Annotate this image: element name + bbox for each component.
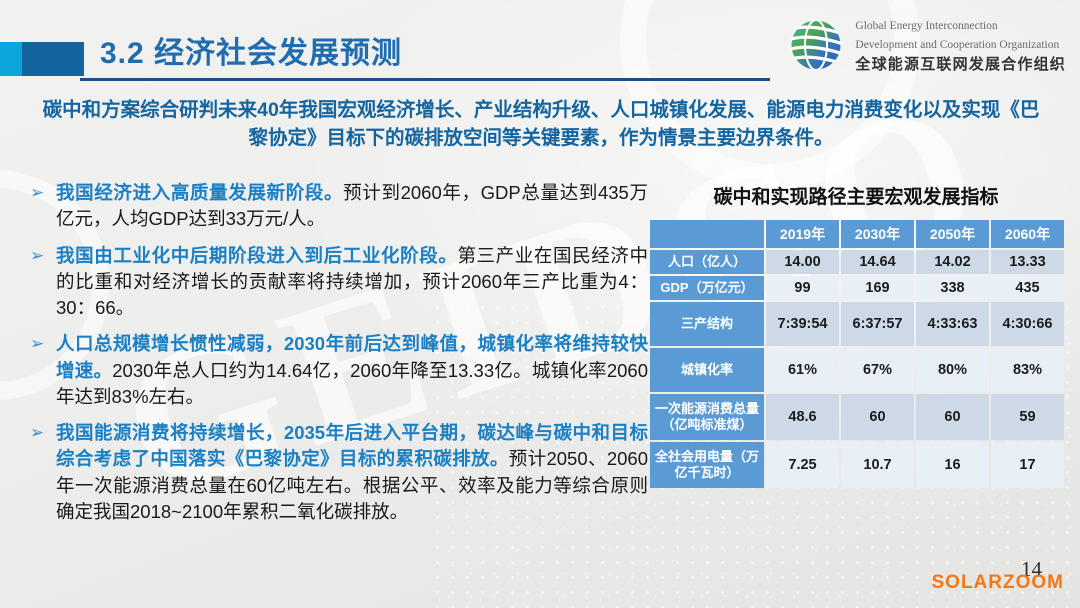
table-cell: 14.00 bbox=[766, 250, 839, 274]
globe-logo-icon bbox=[787, 16, 845, 74]
table-row-label: 全社会用电量（万亿千瓦时） bbox=[650, 442, 764, 488]
bullet-arrow-icon: ➢ bbox=[30, 421, 44, 445]
table-cell: 67% bbox=[841, 348, 914, 392]
table-cell: 10.7 bbox=[841, 442, 914, 488]
table-row: GDP（万亿元） 99 169 338 435 bbox=[650, 276, 1064, 300]
table-row-label: GDP（万亿元） bbox=[650, 276, 764, 300]
table-row-label: 三产结构 bbox=[650, 302, 764, 346]
table-row-label: 城镇化率 bbox=[650, 348, 764, 392]
list-item: ➢我国由工业化中后期阶段进入到后工业化阶段。第三产业在国民经济中的比重和对经济增… bbox=[20, 243, 648, 322]
bullet-body: 2030年总人口约为14.64亿，2060年降至13.33亿。城镇化率2060年… bbox=[56, 360, 648, 407]
table-cell: 435 bbox=[991, 276, 1064, 300]
bullet-list: ➢我国经济进入高质量发展新阶段。预计到2060年，GDP总量达到435万亿元，人… bbox=[20, 180, 648, 535]
macro-indicator-table: 2019年 2030年 2050年 2060年 人口（亿人） 14.00 14.… bbox=[648, 218, 1066, 490]
table-row-label: 一次能源消费总量（亿吨标准煤） bbox=[650, 394, 764, 440]
bullet-arrow-icon: ➢ bbox=[30, 332, 44, 356]
table-cell: 60 bbox=[841, 394, 914, 440]
logo-text-block: Global Energy Interconnection Developmen… bbox=[855, 16, 1066, 73]
table-header-row: 2019年 2030年 2050年 2060年 bbox=[650, 220, 1064, 248]
table-cell: 7:39:54 bbox=[766, 302, 839, 346]
table-cell: 14.02 bbox=[916, 250, 989, 274]
table-cell: 80% bbox=[916, 348, 989, 392]
header-accent-block-blue bbox=[22, 42, 84, 76]
table-corner-cell bbox=[650, 220, 764, 248]
table-cell: 48.6 bbox=[766, 394, 839, 440]
bullet-arrow-icon: ➢ bbox=[30, 181, 44, 205]
table-cell: 61% bbox=[766, 348, 839, 392]
table-cell: 16 bbox=[916, 442, 989, 488]
table-row: 城镇化率 61% 67% 80% 83% bbox=[650, 348, 1064, 392]
table-column-header: 2030年 bbox=[841, 220, 914, 248]
table-cell: 17 bbox=[991, 442, 1064, 488]
table-row: 全社会用电量（万亿千瓦时） 7.25 10.7 16 17 bbox=[650, 442, 1064, 488]
table-cell: 14.64 bbox=[841, 250, 914, 274]
slide-canvas: GEIDCO 3.2 经济社会发展预测 bbox=[0, 0, 1080, 608]
list-item: ➢我国经济进入高质量发展新阶段。预计到2060年，GDP总量达到435万亿元，人… bbox=[20, 180, 648, 233]
header-accent-block-cyan bbox=[0, 42, 22, 76]
table-column-header: 2019年 bbox=[766, 220, 839, 248]
table-row-label: 人口（亿人） bbox=[650, 250, 764, 274]
bullet-arrow-icon: ➢ bbox=[30, 244, 44, 268]
lead-paragraph: 碳中和方案综合研判未来40年我国宏观经济增长、产业结构升级、人口城镇化发展、能源… bbox=[36, 96, 1046, 153]
table-cell: 6:37:57 bbox=[841, 302, 914, 346]
table-cell: 13.33 bbox=[991, 250, 1064, 274]
table-cell: 7.25 bbox=[766, 442, 839, 488]
table-cell: 83% bbox=[991, 348, 1064, 392]
table-cell: 60 bbox=[916, 394, 989, 440]
table-cell: 4:30:66 bbox=[991, 302, 1064, 346]
table-row: 人口（亿人） 14.00 14.64 14.02 13.33 bbox=[650, 250, 1064, 274]
table-cell: 338 bbox=[916, 276, 989, 300]
table-cell: 59 bbox=[991, 394, 1064, 440]
logo-english-line-2: Development and Cooperation Organization bbox=[855, 39, 1059, 51]
header-divider-rule bbox=[80, 78, 770, 81]
list-item: ➢我国能源消费将持续增长，2035年后进入平台期，碳达峰与碳中和目标综合考虑了中… bbox=[20, 420, 648, 525]
organization-logo: Global Energy Interconnection Developmen… bbox=[787, 16, 1066, 74]
logo-chinese-name: 全球能源互联网发展合作组织 bbox=[855, 56, 1066, 74]
table-cell: 4:33:63 bbox=[916, 302, 989, 346]
table-column-header: 2050年 bbox=[916, 220, 989, 248]
table-column-header: 2060年 bbox=[991, 220, 1064, 248]
bullet-highlight: 我国经济进入高质量发展新阶段。 bbox=[56, 182, 343, 203]
logo-english-line-1: Global Energy Interconnection bbox=[855, 20, 997, 32]
list-item: ➢人口总规模增长惯性减弱，2030年前后达到峰值，城镇化率将维持较快增速。203… bbox=[20, 331, 648, 410]
table-cell: 99 bbox=[766, 276, 839, 300]
table-row: 一次能源消费总量（亿吨标准煤） 48.6 60 60 59 bbox=[650, 394, 1064, 440]
bullet-highlight: 我国由工业化中后期阶段进入到后工业化阶段。 bbox=[56, 245, 457, 266]
table-title: 碳中和实现路径主要宏观发展指标 bbox=[648, 182, 1064, 209]
page-title: 3.2 经济社会发展预测 bbox=[100, 28, 402, 72]
table-row: 三产结构 7:39:54 6:37:57 4:33:63 4:30:66 bbox=[650, 302, 1064, 346]
table-cell: 169 bbox=[841, 276, 914, 300]
solarzoom-watermark: SOLARZOOM bbox=[932, 572, 1065, 594]
